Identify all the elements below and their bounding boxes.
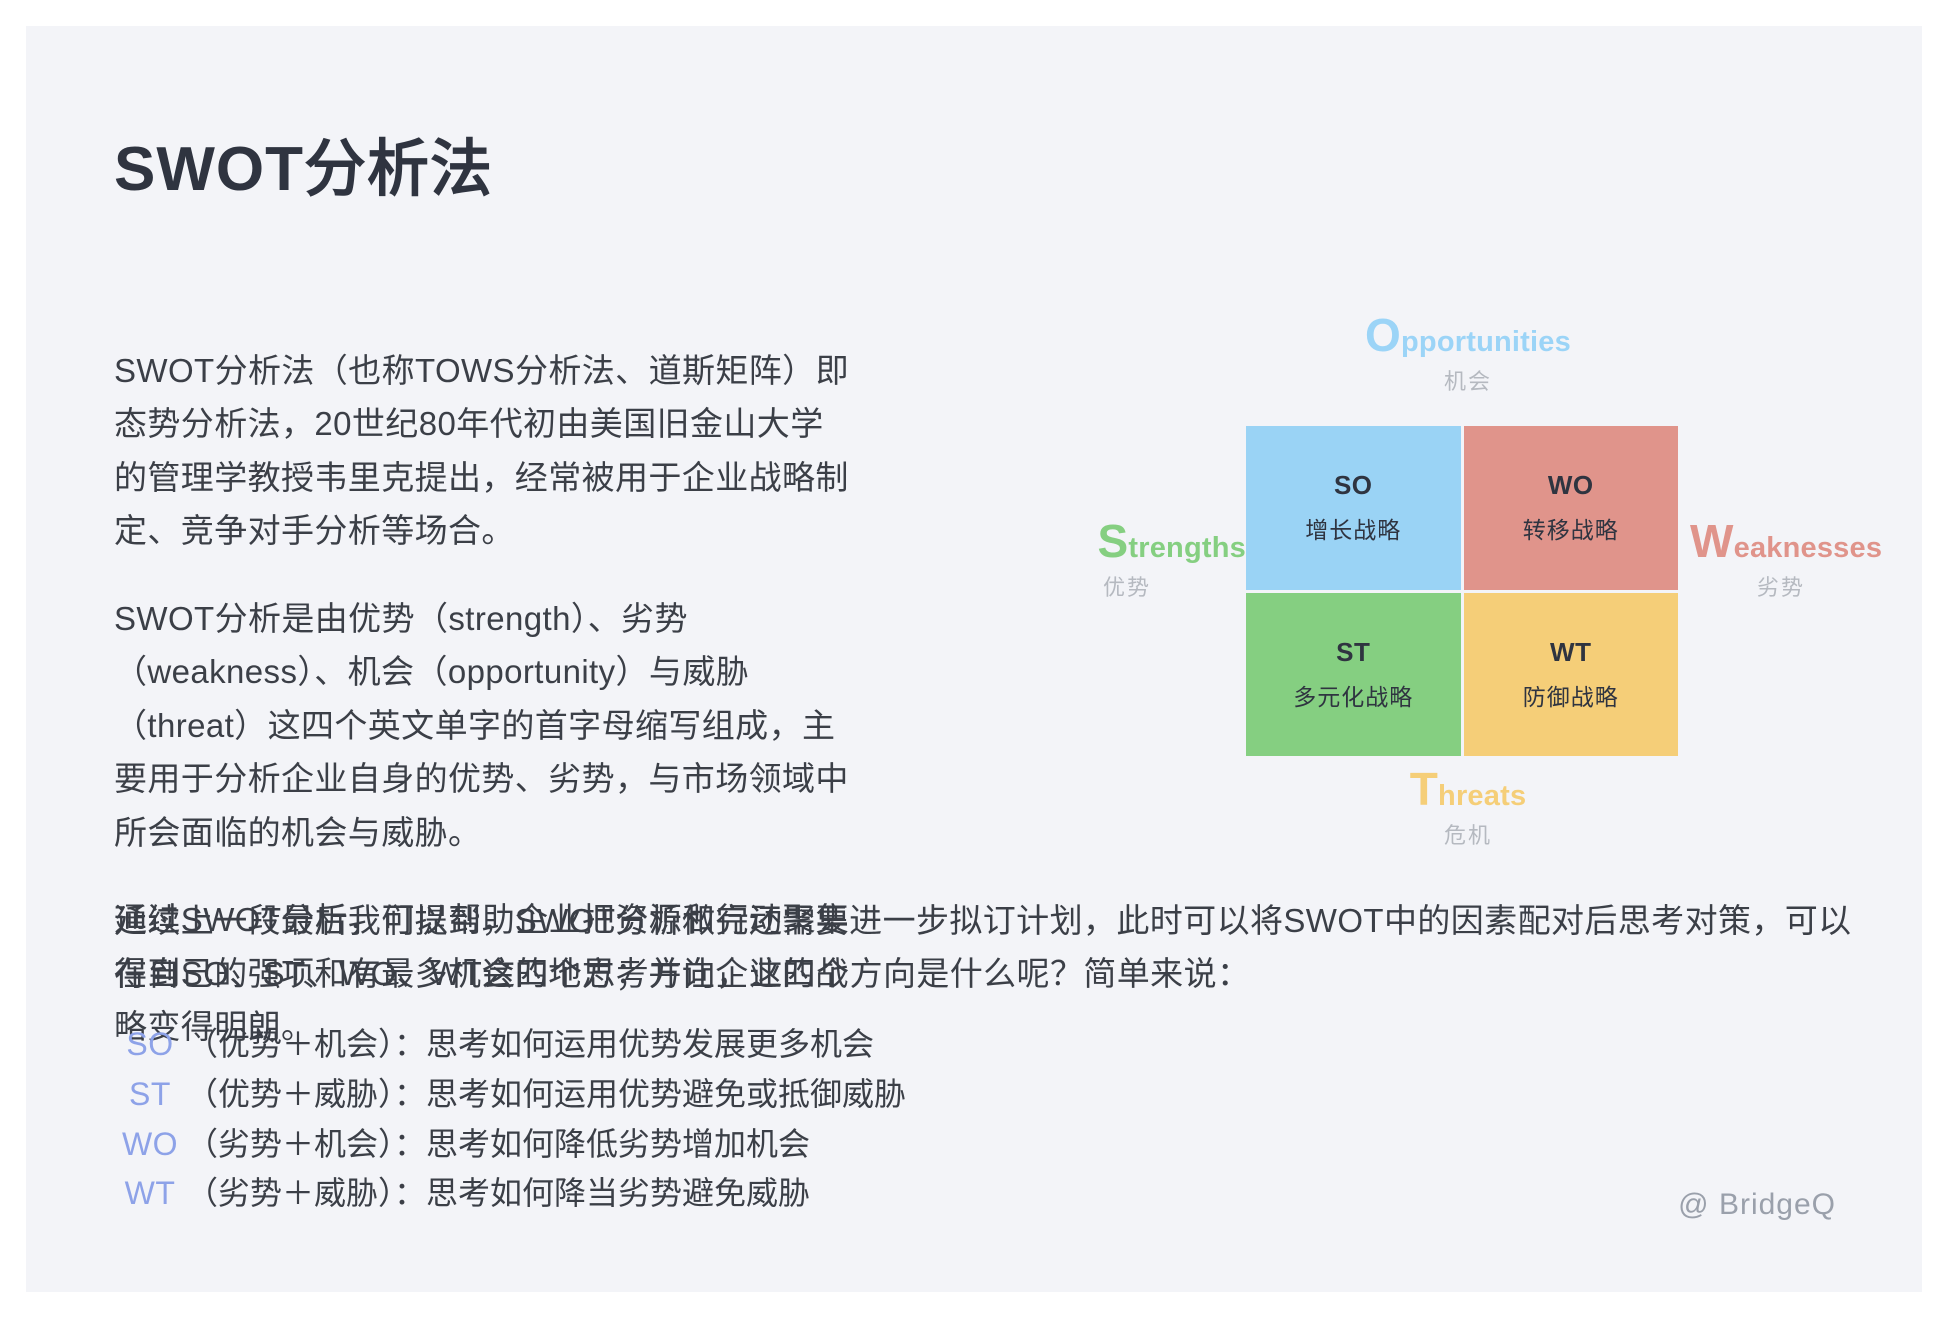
axis-label-opportunities: Opportunities 机会 — [1288, 312, 1648, 396]
pair-description: （优势＋威胁）：思考如何运用优势避免或抵御威胁 — [186, 1076, 906, 1114]
list-item: WO （劣势＋机会）：思考如何降低劣势增加机会 — [114, 1126, 1214, 1164]
axis-label-threats-cn: 危机 — [1288, 818, 1648, 850]
axis-label-opportunities-en: Opportunities — [1288, 312, 1648, 358]
quadrant-name: 多元化战略 — [1293, 678, 1413, 712]
pair-code: SO — [114, 1026, 186, 1064]
quadrant-name: 转移战略 — [1523, 511, 1619, 545]
list-item: SO （优势＋机会）：思考如何运用优势发展更多机会 — [114, 1026, 1214, 1064]
page-title: SWOT分析法 — [114, 136, 493, 204]
quadrant-name: 增长战略 — [1305, 511, 1401, 545]
paragraph: SWOT分析是由优势（strength）、劣势（weakness）、机会（opp… — [114, 592, 854, 859]
quadrant-code: WO — [1548, 470, 1594, 501]
paragraph: SWOT分析法（也称TOWS分析法、道斯矩阵）即态势分析法，20世纪80年代初由… — [114, 344, 854, 558]
watermark: @ BridgeQ — [1678, 1188, 1836, 1222]
axis-initial-s: S — [1098, 515, 1129, 567]
axis-initial-w: W — [1690, 515, 1734, 567]
pair-description: （劣势＋机会）：思考如何降低劣势增加机会 — [186, 1126, 810, 1164]
axis-rest-weaknesses: eaknesses — [1734, 532, 1883, 564]
pair-description: （劣势＋威胁）：思考如何降当劣势避免威胁 — [186, 1175, 810, 1213]
list-item: ST （优势＋威胁）：思考如何运用优势避免或抵御威胁 — [114, 1076, 1214, 1114]
slide-canvas: SWOT分析法 SWOT分析法（也称TOWS分析法、道斯矩阵）即态势分析法，20… — [26, 26, 1922, 1292]
quadrant-so: SO 增长战略 — [1246, 426, 1461, 590]
axis-label-weaknesses: Weaknesses 劣势 — [1690, 518, 1922, 602]
pair-code: WT — [114, 1175, 186, 1213]
quadrant-st: ST 多元化战略 — [1246, 593, 1461, 757]
axis-rest-strengths: trengths — [1128, 532, 1246, 564]
pair-code: ST — [114, 1076, 186, 1114]
quadrant-code: ST — [1336, 637, 1370, 668]
list-item: WT （劣势＋威胁）：思考如何降当劣势避免威胁 — [114, 1175, 1214, 1213]
axis-label-opportunities-cn: 机会 — [1288, 364, 1648, 396]
strategy-pair-list: SO （优势＋机会）：思考如何运用优势发展更多机会 ST （优势＋威胁）：思考如… — [114, 1026, 1214, 1225]
quadrant-wo: WO 转移战略 — [1464, 426, 1679, 590]
quadrant-code: WT — [1550, 637, 1591, 668]
quadrant-name: 防御战略 — [1523, 678, 1619, 712]
axis-label-weaknesses-cn: 劣势 — [1690, 570, 1922, 602]
axis-rest-threats: hreats — [1438, 780, 1526, 812]
quadrant-wt: WT 防御战略 — [1464, 593, 1679, 757]
swot-matrix-diagram: Opportunities 机会 Strengths 优势 Weaknesses… — [1086, 326, 1766, 796]
matrix-grid: SO 增长战略 WO 转移战略 ST 多元化战略 WT 防御战略 — [1246, 426, 1678, 756]
pair-code: WO — [114, 1126, 186, 1164]
axis-initial-t: T — [1410, 763, 1438, 815]
summary-paragraph: 延续上一段最后我们提到，SWOT分析做完还需要进一步拟订计划，此时可以将SWOT… — [114, 894, 1874, 1001]
axis-label-threats-en: Threats — [1288, 766, 1648, 812]
axis-label-strengths-en: Strengths — [1036, 518, 1246, 564]
axis-label-strengths-cn: 优势 — [1036, 570, 1246, 602]
axis-label-weaknesses-en: Weaknesses — [1690, 518, 1922, 564]
axis-rest-opportunities: pportunities — [1401, 326, 1571, 358]
pair-description: （优势＋机会）：思考如何运用优势发展更多机会 — [186, 1026, 874, 1064]
axis-label-threats: Threats 危机 — [1288, 766, 1648, 850]
axis-initial-o: O — [1365, 309, 1401, 361]
axis-label-strengths: Strengths 优势 — [1036, 518, 1246, 602]
quadrant-code: SO — [1334, 470, 1373, 501]
